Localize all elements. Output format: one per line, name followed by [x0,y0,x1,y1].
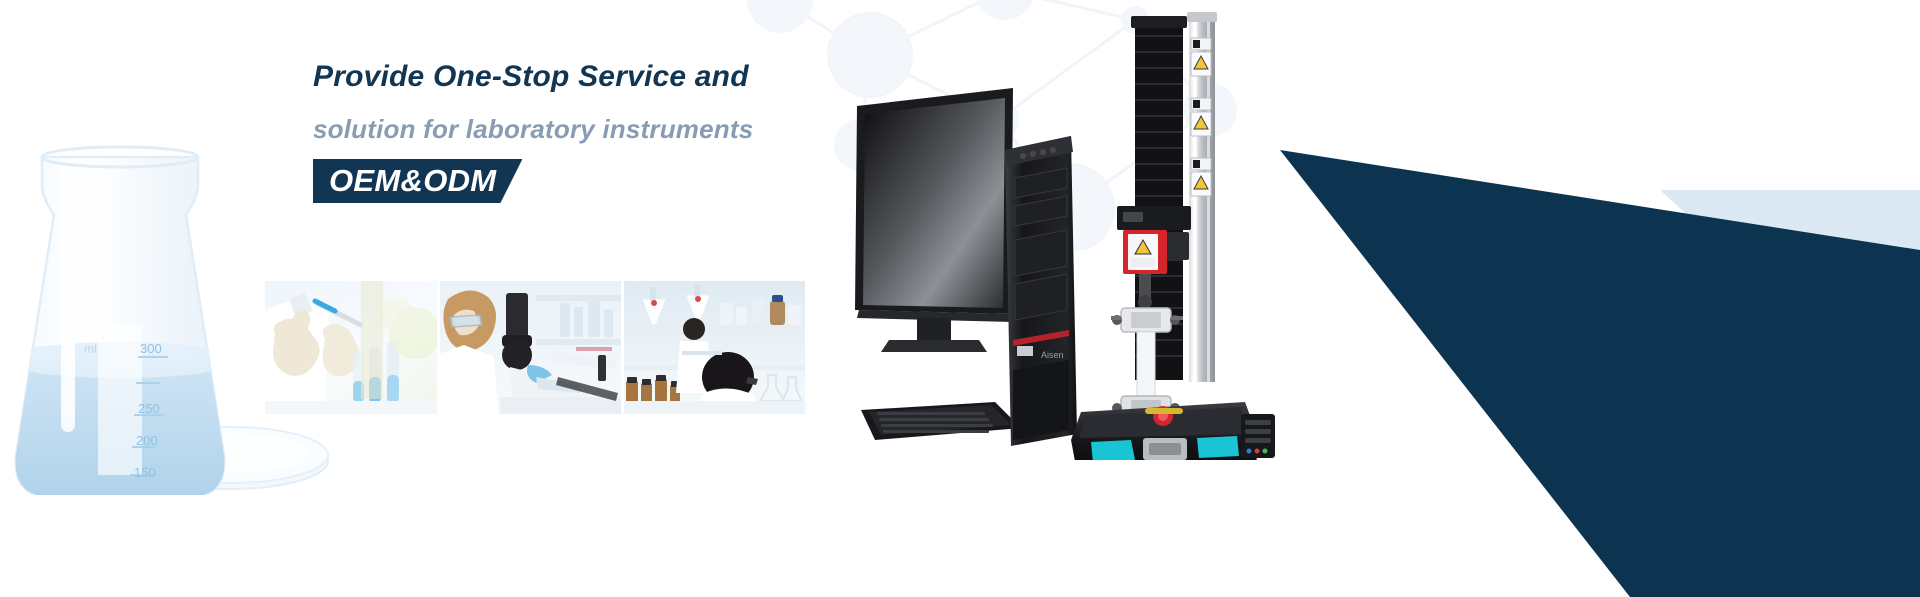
oem-odm-badge: OEM&ODM [313,159,522,203]
desktop-keyboard [861,402,1021,440]
svg-text:250: 250 [138,401,160,416]
svg-text:200: 200 [136,433,158,448]
hero-banner: 300 250 200 150 ml Provide One-Stop Serv… [0,0,1920,597]
filmstrip-photo-microscope [440,281,621,414]
filmstrip-photo-pipetting [265,281,437,414]
machine-base [1071,402,1275,460]
product-photo-cluster: Aisen [845,10,1325,460]
desktop-monitor [855,88,1013,352]
svg-text:150: 150 [134,465,156,480]
warning-labels [1191,38,1211,196]
universal-testing-machine [1071,12,1275,460]
navy-arrow-shape [1280,150,1920,597]
computer-tower: Aisen [1005,136,1077,446]
svg-text:Aisen: Aisen [1041,350,1064,360]
photo-filmstrip [265,281,805,414]
svg-text:300: 300 [140,341,162,356]
svg-text:ml: ml [84,342,97,356]
filmstrip-photo-lab-technicians [624,281,805,414]
pale-blue-triangle [1660,190,1920,430]
